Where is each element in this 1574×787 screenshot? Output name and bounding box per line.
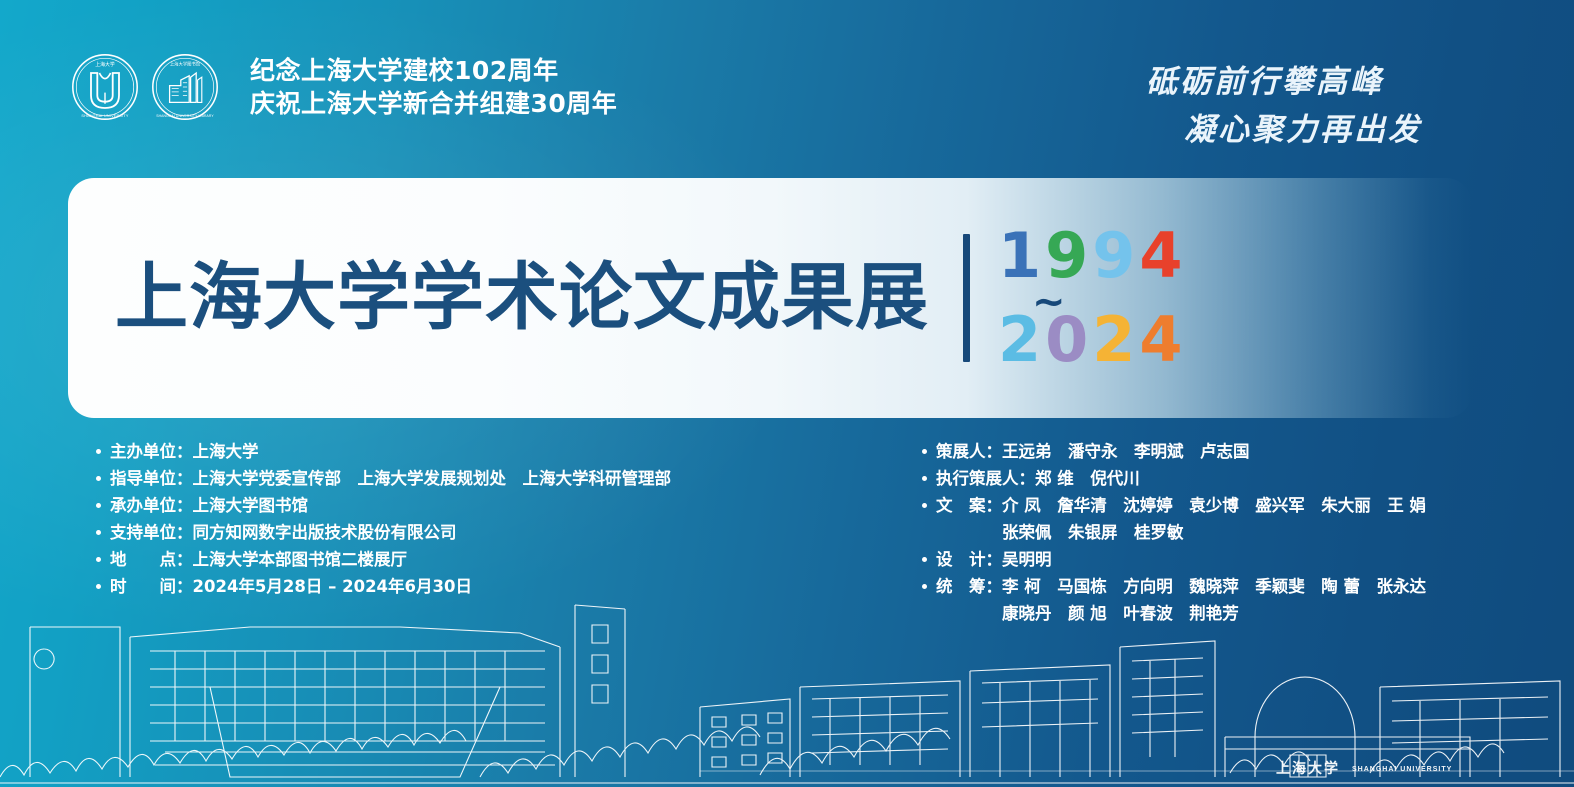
calligraphy-icon: 砥砺前行攀高峰 凝心聚力再出发 [1132,48,1462,154]
bullet-icon [922,476,927,481]
list-item-label: 执行策展人： [936,465,1035,492]
list-item: 支持单位： 同方知网数字出版技术股份有限公司 [96,519,896,546]
year-digit: 4 [1139,303,1186,376]
gate-text-cn: 上海大学 [1276,760,1340,777]
shanghai-university-emblem-icon: 上海大学 SHANGHAI UNIVERSITY [70,52,140,122]
list-item: 策展人： 王远弟 潘守永 李明斌 卢志国 [922,438,1522,465]
title-card: 上海大学学术论文成果展 1994 ~ 2024 [68,178,1472,418]
bullet-icon [96,557,101,562]
year-digit: 2 [1092,303,1139,376]
year-bottom: 2024 [998,309,1187,371]
calligraphy-slogan: 砥砺前行攀高峰 凝心聚力再出发 [1132,48,1462,154]
header-line-2: 庆祝上海大学新合并组建30周年 [250,87,617,120]
organizer-info-list: 主办单位： 上海大学 指导单位： 上海大学党委宣传部 上海大学发展规划处 上海大… [96,438,896,600]
calligraphy-line-1: 砥砺前行攀高峰 [1146,64,1385,100]
header: 上海大学 SHANGHAI UNIVERSITY 上海大学图书馆 SHANGHA… [70,52,617,122]
svg-text:SHANGHAI UNIVERSITY: SHANGHAI UNIVERSITY [81,114,129,118]
list-item: 文 案： 介 凤 詹华清 沈婷婷 袁少博 盛兴军 朱大丽 王 娟 [922,492,1522,519]
list-item-value: 上海大学本部图书馆二楼展厅 [193,546,408,573]
list-item-value: 吴明明 [1002,546,1052,573]
list-item: 承办单位： 上海大学图书馆 [96,492,896,519]
bullet-icon [922,449,927,454]
logo-group: 上海大学 SHANGHAI UNIVERSITY 上海大学图书馆 SHANGHA… [70,52,220,122]
list-item-value: 介 凤 詹华清 沈婷婷 袁少博 盛兴军 朱大丽 王 娟 [1002,492,1426,519]
bullet-icon [922,503,927,508]
gate-text-en: SHANGHAI UNIVERSITY [1352,766,1452,773]
list-item: 主办单位： 上海大学 [96,438,896,465]
list-item-continuation: 张荣佩 朱银屏 桂罗敏 [922,519,1522,546]
list-item-label: 策展人： [936,438,1002,465]
list-item-label: 支持单位： [110,519,193,546]
bullet-icon [96,476,101,481]
bullet-icon [96,530,101,535]
list-item: 执行策展人： 郑 维 倪代川 [922,465,1522,492]
list-item-label: 指导单位： [110,465,193,492]
header-title-block: 纪念上海大学建校102周年 庆祝上海大学新合并组建30周年 [250,54,617,120]
svg-text:SHANGHAI UNIVERSITY LIBRARY: SHANGHAI UNIVERSITY LIBRARY [156,114,214,118]
list-item-label: 地 点： [110,546,193,573]
list-item-value: 上海大学党委宣传部 上海大学发展规划处 上海大学科研管理部 [193,465,672,492]
calligraphy-line-2: 凝心聚力再出发 [1184,112,1423,148]
list-item-label: 设 计： [936,546,1002,573]
bullet-icon [96,449,101,454]
campus-skyline-illustration: 上海大学 SHANGHAI UNIVERSITY 图书馆 [0,587,1574,787]
list-item: 设 计： 吴明明 [922,546,1522,573]
list-item: 指导单位： 上海大学党委宣传部 上海大学发展规划处 上海大学科研管理部 [96,465,896,492]
list-item-value: 郑 维 倪代川 [1035,465,1140,492]
svg-text:上海大学图书馆: 上海大学图书馆 [170,60,201,67]
list-item-label: 文 案： [936,492,1002,519]
year-digit: 9 [1092,219,1139,292]
list-item-label: 主办单位： [110,438,193,465]
list-item-label: 承办单位： [110,492,193,519]
page-title: 上海大学学术论文成果展 [115,257,929,339]
year-separator: ~ [1032,287,1066,317]
list-item-value: 王远弟 潘守永 李明斌 卢志国 [1002,438,1250,465]
bullet-icon [922,557,927,562]
year-top: 1994 [998,225,1187,287]
list-item: 地 点： 上海大学本部图书馆二楼展厅 [96,546,896,573]
svg-text:上海大学: 上海大学 [95,61,115,68]
list-item-value: 同方知网数字出版技术股份有限公司 [193,519,457,546]
poster-banner: 上海大学 SHANGHAI UNIVERSITY 上海大学图书馆 SHANGHA… [0,0,1574,787]
year-divider-bar [963,234,970,362]
skyline-icon: 上海大学 SHANGHAI UNIVERSITY 图书馆 [0,587,1574,787]
list-item-value: 上海大学 [193,438,259,465]
bullet-icon [96,503,101,508]
year-digit: 4 [1139,219,1186,292]
header-line-1: 纪念上海大学建校102周年 [250,54,617,87]
list-item-value: 上海大学图书馆 [193,492,309,519]
year-range: 1994 ~ 2024 [963,225,1187,371]
shanghai-university-library-emblem-icon: 上海大学图书馆 SHANGHAI UNIVERSITY LIBRARY [150,52,220,122]
